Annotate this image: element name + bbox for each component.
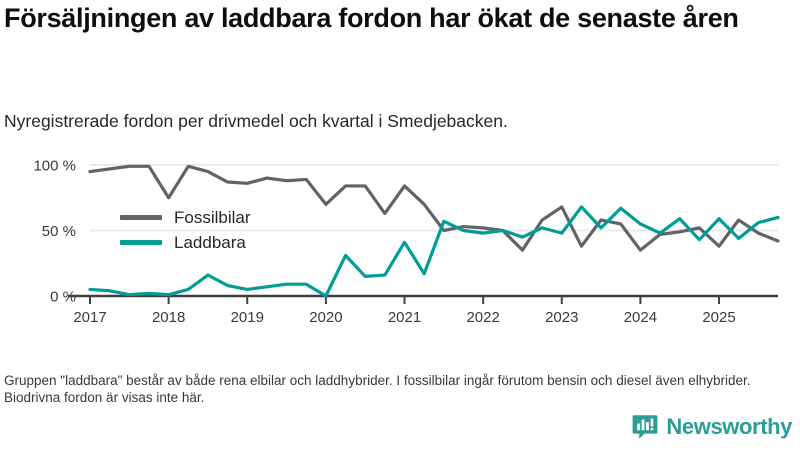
legend-item-laddbara: Laddbara <box>120 230 340 255</box>
x-axis-tick-label: 2019 <box>231 309 264 326</box>
legend-item-fossilbilar: Fossilbilar <box>120 205 340 230</box>
x-axis-tick-label: 2017 <box>73 309 106 326</box>
legend-swatch-laddbara <box>120 240 162 245</box>
chart-subtitle: Nyregistrerade fordon per drivmedel och … <box>4 110 784 132</box>
page-title: Försäljningen av laddbara fordon har öka… <box>4 2 794 34</box>
bar-chart-bubble-icon <box>632 414 658 440</box>
legend-label-fossilbilar: Fossilbilar <box>174 208 251 228</box>
newsworthy-logo: Newsworthy <box>632 414 792 440</box>
newsworthy-logo-text: Newsworthy <box>666 414 792 440</box>
x-axis-tick-label: 2024 <box>624 309 657 326</box>
y-axis-tick-label: 100 % <box>33 158 76 175</box>
x-axis-tick-label: 2021 <box>388 309 421 326</box>
x-axis-tick-label: 2020 <box>309 309 342 326</box>
x-axis-tick-label: 2025 <box>702 309 735 326</box>
chart-footnote: Gruppen "laddbara" består av både rena e… <box>4 372 794 406</box>
chart-legend: Fossilbilar Laddbara <box>120 205 340 255</box>
chart-page: Försäljningen av laddbara fordon har öka… <box>0 0 800 450</box>
x-axis-tick-label: 2018 <box>152 309 185 326</box>
x-axis-tick-label: 2022 <box>466 309 499 326</box>
legend-label-laddbara: Laddbara <box>174 233 246 253</box>
y-axis-tick-label: 50 % <box>42 223 76 240</box>
x-axis-tick-label: 2023 <box>545 309 578 326</box>
legend-swatch-fossilbilar <box>120 215 162 220</box>
